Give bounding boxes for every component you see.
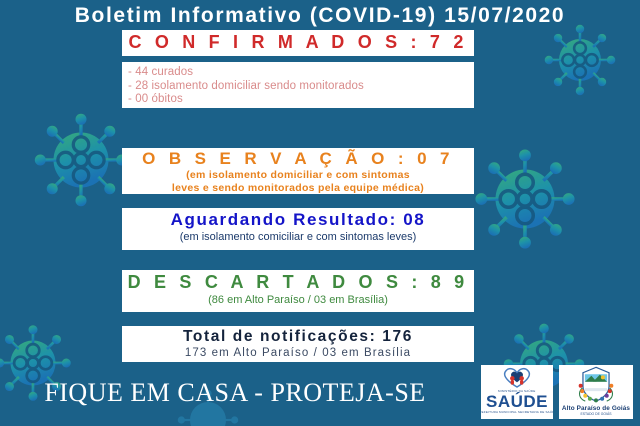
confirmados-heading: C O N F I R M A D O S : 7 2 <box>122 30 474 52</box>
panel-confirmados-details: - 44 curados - 28 isolamento domiciliar … <box>122 62 474 108</box>
aguardando-heading: Aguardando Resultado: 08 <box>122 208 474 229</box>
heart-hands-icon <box>497 365 537 389</box>
virus-icon-right-middle <box>466 140 584 258</box>
saude-top-text: MINISTÉRIO DA SAÚDE <box>498 389 535 393</box>
observacao-note-line1: (em isolamento domiciliar e com sintomas <box>122 169 474 181</box>
panel-total-notificacoes: Total de notificações: 176 173 em Alto P… <box>122 326 474 362</box>
brasao-subtitle: ESTADO DE GOIÁS <box>580 412 611 416</box>
panel-observacao: O B S E R V A Ç Ã O : 0 7 (em isolamento… <box>122 148 474 194</box>
virus-icon-left-upper <box>26 105 136 215</box>
saude-wordmark: SAÚDE <box>486 393 548 410</box>
descartados-note: (86 em Alto Paraíso / 03 em Brasília) <box>122 294 474 307</box>
total-note: 173 em Alto Paraíso / 03 em Brasília <box>122 347 474 360</box>
panel-aguardando-resultado: Aguardando Resultado: 08 (em isolamento … <box>122 208 474 250</box>
saude-bottom-text: PREFEITURA MUNICIPAL SECRETARIA DE SAÚDE <box>481 410 553 414</box>
descartados-heading: D E S C A R T A D O S : 8 9 <box>122 270 474 292</box>
brasao-name: Alto Paraíso de Goiás <box>562 405 630 412</box>
virus-icon-right-upper <box>538 18 622 102</box>
bulletin-canvas: Boletim Informativo (COVID-19) 15/07/202… <box>0 0 640 426</box>
confirmados-detail-curados: - 44 curados <box>128 66 474 80</box>
aguardando-note: (em isolamento comiciliar e com sintomas… <box>122 231 474 244</box>
logo-ministerio-saude: MINISTÉRIO DA SAÚDE SAÚDE PREFEITURA MUN… <box>481 365 553 419</box>
panel-descartados: D E S C A R T A D O S : 8 9 (86 em Alto … <box>122 270 474 312</box>
page-title: Boletim Informativo (COVID-19) 15/07/202… <box>0 4 640 28</box>
total-heading: Total de notificações: 176 <box>122 326 474 345</box>
slogan-text: FIQUE EM CASA - PROTEJA-SE <box>0 378 470 408</box>
observacao-heading: O B S E R V A Ç Ã O : 0 7 <box>122 148 474 168</box>
panel-confirmados: C O N F I R M A D O S : 7 2 <box>122 30 474 56</box>
confirmados-detail-isolamento: - 28 isolamento domiciliar sendo monitor… <box>128 80 474 94</box>
coat-of-arms-icon <box>573 365 619 405</box>
observacao-note-line2: leves e sendo monitorados pela equipe mé… <box>122 182 474 194</box>
confirmados-detail-obitos: - 00 óbitos <box>128 93 474 107</box>
logo-brasao-municipal: Alto Paraíso de Goiás ESTADO DE GOIÁS <box>559 365 633 419</box>
